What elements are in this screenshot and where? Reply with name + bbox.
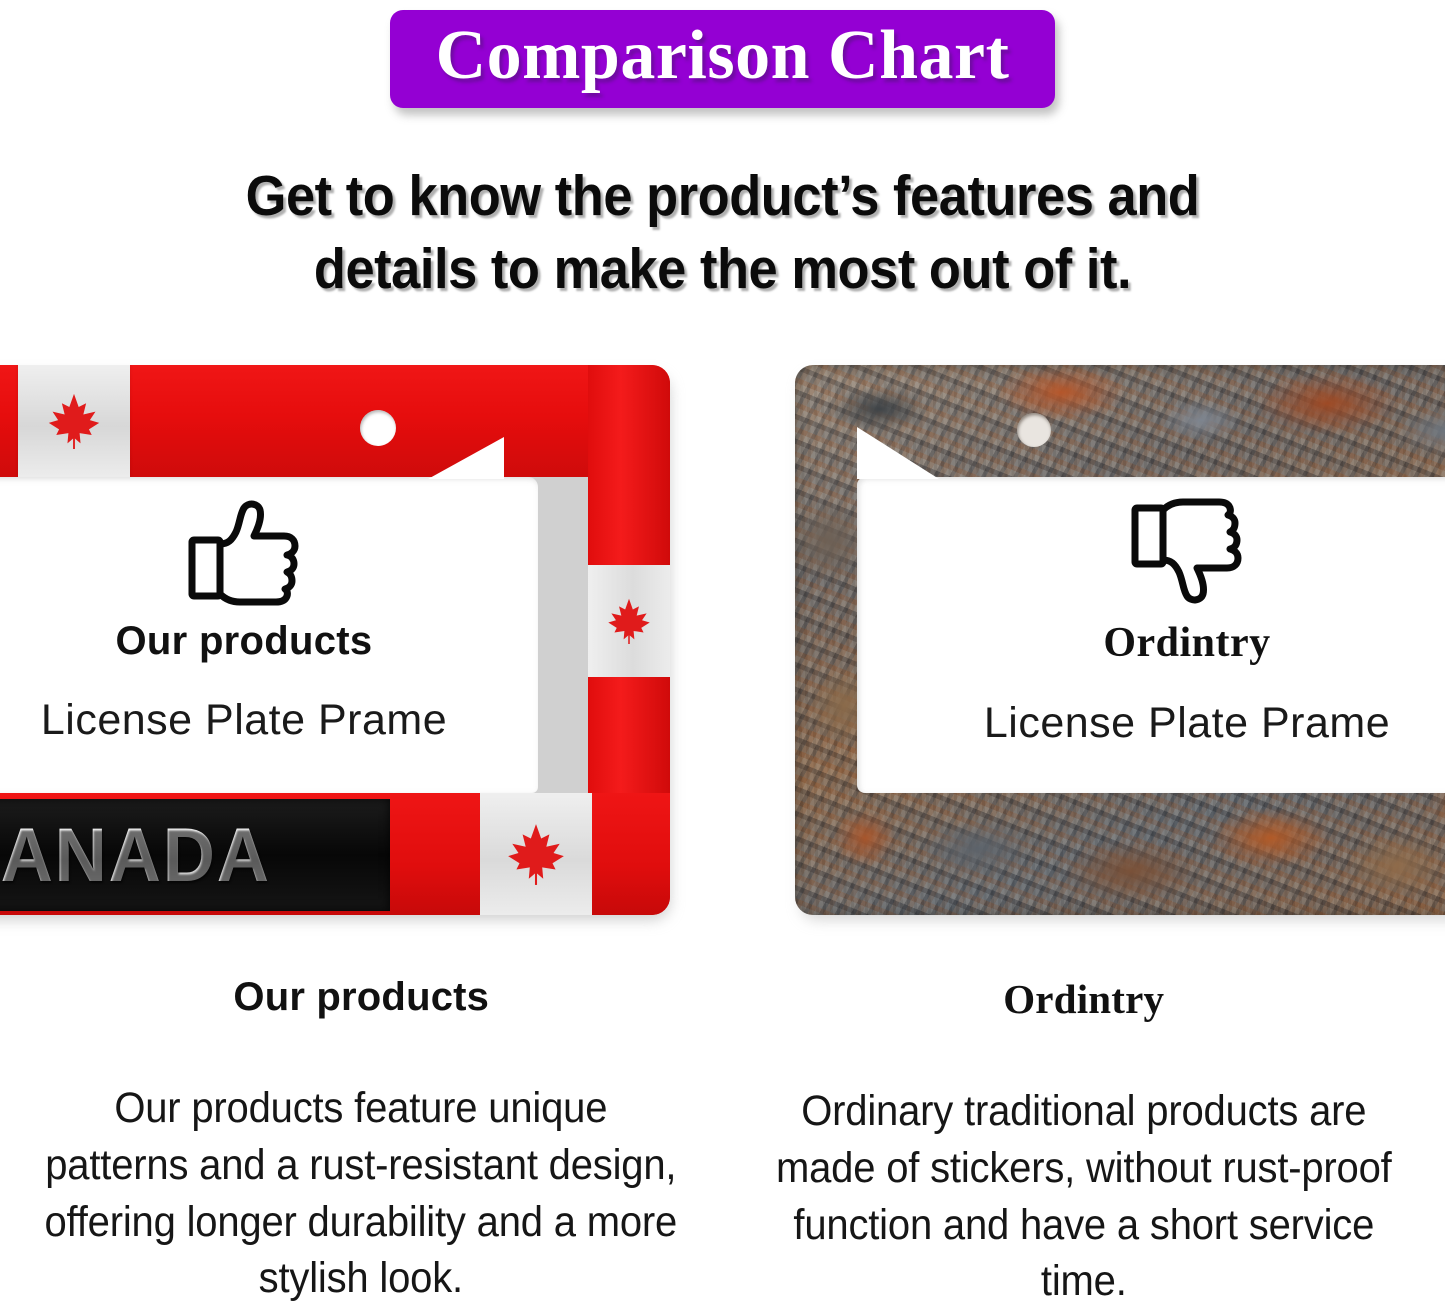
mounting-hole <box>1017 413 1051 447</box>
license-plate: CANADA <box>0 799 390 911</box>
ordinary-product-frame-content: Ordintry License Plate Prame <box>857 477 1445 793</box>
frame-bevel-notch <box>428 437 504 479</box>
ordinary-product-frame: Ordintry License Plate Prame <box>795 365 1445 915</box>
right-column-body: Ordinary traditional products are made o… <box>761 1083 1406 1310</box>
canada-flag-patch-top <box>18 365 130 477</box>
right-frame-title: Ordintry <box>1103 619 1270 667</box>
thumbs-up-icon <box>184 496 304 608</box>
description-columns: Our products Our products feature unique… <box>0 975 1445 1314</box>
left-frame-subtitle: License Plate Prame <box>41 696 447 745</box>
comparison-chart-page: Comparison Chart Get to know the product… <box>0 0 1445 1314</box>
thumbs-down-icon-box <box>1127 493 1247 611</box>
page-title: Comparison Chart <box>436 18 1010 94</box>
canada-flag-patch-right <box>588 565 670 677</box>
right-frame-subtitle: License Plate Prame <box>984 699 1390 748</box>
left-column-title: Our products <box>233 975 489 1020</box>
left-column-body: Our products feature unique patterns and… <box>39 1080 684 1307</box>
maple-leaf-icon <box>505 821 567 887</box>
frame-top-rail <box>0 365 670 477</box>
left-frame-title: Our products <box>116 619 373 664</box>
our-product-frame: CANADA Our products License Plate Prame <box>0 365 670 915</box>
license-plate-text: CANADA <box>0 812 271 899</box>
right-description-column: Ordintry Ordinary traditional products a… <box>723 975 1445 1314</box>
thumbs-up-icon-box <box>184 493 304 611</box>
title-banner-container: Comparison Chart <box>0 10 1445 108</box>
canada-flag-patch-bottom <box>480 793 592 915</box>
thumbs-down-icon <box>1127 496 1247 608</box>
maple-leaf-icon <box>46 391 102 451</box>
maple-leaf-icon <box>606 596 652 646</box>
subtitle-line-1: Get to know the product’s features and <box>58 160 1387 233</box>
left-description-column: Our products Our products feature unique… <box>0 975 723 1314</box>
title-banner: Comparison Chart <box>390 10 1056 108</box>
subtitle: Get to know the product’s features and d… <box>58 160 1387 306</box>
frame-bevel-notch <box>857 427 939 479</box>
mounting-hole <box>360 410 396 446</box>
right-column-title: Ordintry <box>1003 975 1164 1023</box>
product-frames-row: CANADA Our products License Plate Prame <box>0 355 1445 930</box>
subtitle-line-2: details to make the most out of it. <box>58 233 1387 306</box>
our-product-frame-content: Our products License Plate Prame <box>0 477 538 793</box>
